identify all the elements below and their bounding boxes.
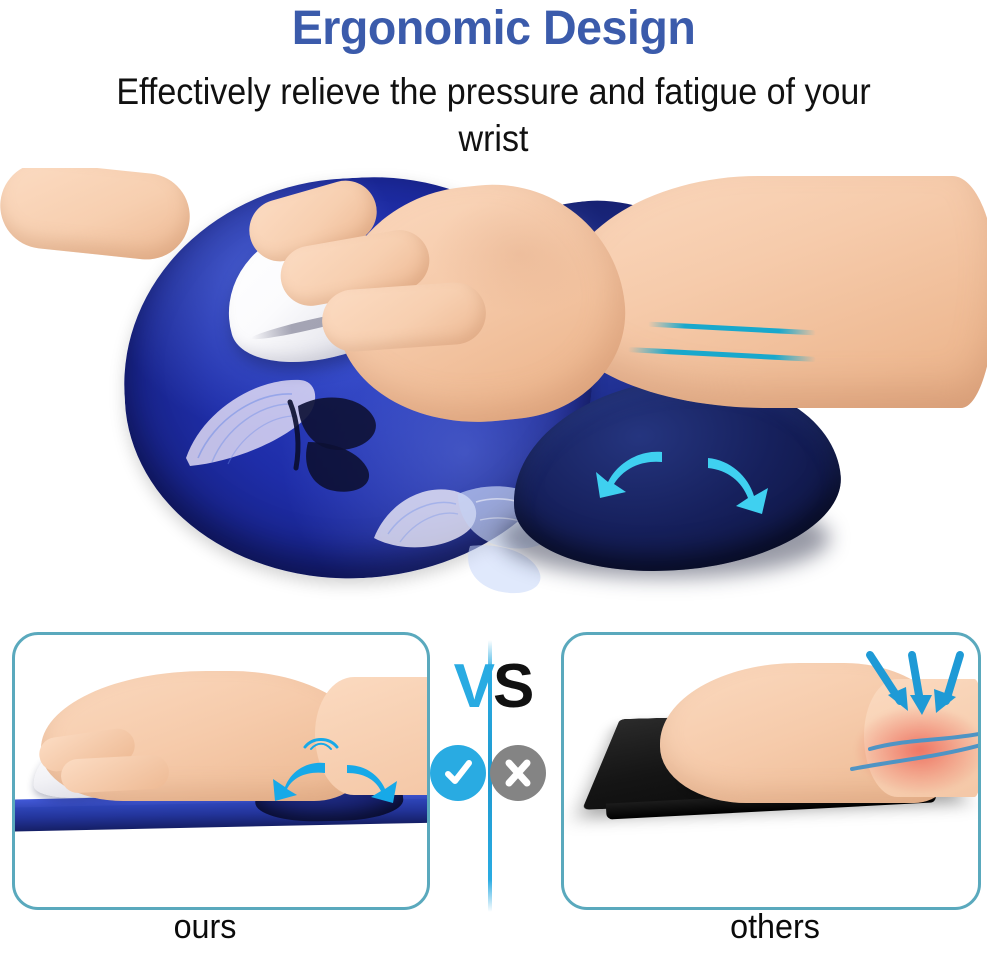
ours-fingers [35,723,185,787]
header: Ergonomic Design Effectively relieve the… [0,0,987,172]
vs-letter-s: S [493,652,532,721]
downward-pressure-arrows-icon [860,649,980,721]
check-icon [441,756,475,790]
vs-letter-v: V [454,652,493,721]
vs-divider: VS [424,632,562,932]
wrist-stress-lines [848,731,981,781]
panel-ours [12,632,430,910]
ring-finger [320,280,488,353]
vs-label: VS [424,656,562,718]
close-icon [501,756,535,790]
caption-ours: ours [86,906,324,948]
check-badge [430,745,486,801]
ours-support-arrows-icon [267,753,399,809]
product-infographic: Ergonomic Design Effectively relieve the… [0,0,987,956]
ours-comfort-arc-icon [301,733,341,751]
hero-product-photo [0,168,987,620]
x-badge [490,745,546,801]
thumb [0,168,194,264]
panel-others [561,632,981,910]
page-subtitle: Effectively relieve the pressure and fat… [113,68,874,162]
page-title: Ergonomic Design [15,0,972,58]
pressure-spread-arrows-icon [596,444,776,514]
caption-others: others [656,906,894,948]
